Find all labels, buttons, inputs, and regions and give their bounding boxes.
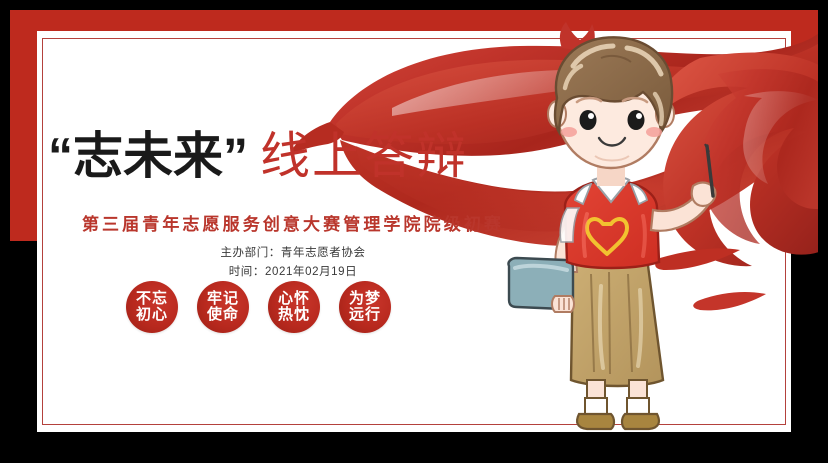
- title-main-text: 线上答辩: [260, 131, 468, 181]
- frame-band-right: [791, 10, 818, 241]
- slogan-circle: 牢记 使命: [197, 281, 249, 333]
- organizer-line: 主办部门：青年志愿者协会: [48, 244, 538, 260]
- slogan-line-bottom: 使命: [207, 307, 239, 323]
- slogan-line-bottom: 初心: [136, 307, 168, 323]
- slogan-circle: 为梦 远行: [339, 281, 391, 333]
- time-line: 时间：2021年02月19日: [48, 263, 538, 279]
- frame-band-left: [10, 10, 37, 241]
- slogan-line-top: 不忘: [136, 291, 168, 307]
- frame-band-top: [10, 10, 818, 31]
- poster-subtitle: 第三届青年志愿服务创意大赛管理学院院级初赛: [48, 210, 538, 235]
- slogan-line-top: 牢记: [207, 291, 239, 307]
- letterbox-left: [0, 0, 10, 463]
- letterbox-bottom: [0, 432, 828, 463]
- letterbox-top: [0, 0, 828, 10]
- slogan-circle: 不忘 初心: [126, 281, 178, 333]
- slogan-line-bottom: 远行: [349, 307, 381, 323]
- slogan-line-top: 心怀: [278, 291, 310, 307]
- poster-canvas: “志未来” 线上答辩 第三届青年志愿服务创意大赛管理学院院级初赛 主办部门：青年…: [0, 0, 828, 463]
- slogan-line-bottom: 热忱: [278, 307, 310, 323]
- title-quoted-text: “志未来”: [48, 131, 248, 181]
- letterbox-right: [818, 0, 828, 463]
- slogan-line-top: 为梦: [349, 291, 381, 307]
- slogan-circle-group: 不忘 初心 牢记 使命 心怀 热忱 为梦 远行: [126, 281, 391, 333]
- poster-title: “志未来” 线上答辩: [48, 131, 468, 181]
- slogan-circle: 心怀 热忱: [268, 281, 320, 333]
